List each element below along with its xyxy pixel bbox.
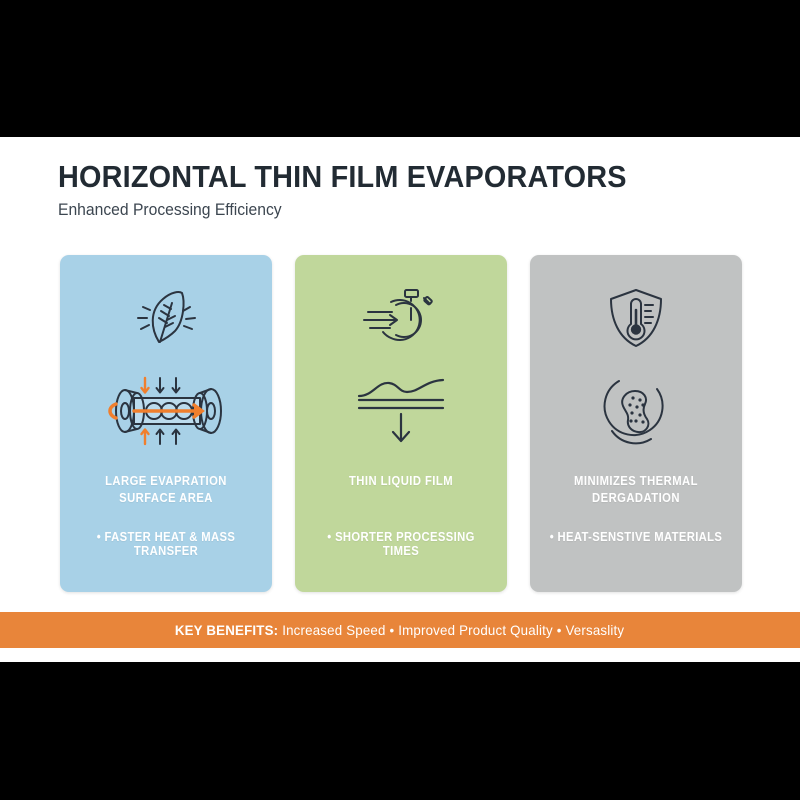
- key-benefits-banner: KEY BENEFITS: Increased Speed • Improved…: [0, 612, 800, 648]
- card-bullet: • HEAT-SENSTIVE MATERIALS: [546, 530, 726, 544]
- card-label-line-1: LARGE EVAPRATION: [105, 474, 227, 488]
- fast-stopwatch-icon: [295, 279, 507, 357]
- card-label-line-2: SURFACE AREA: [119, 491, 213, 505]
- letterbox-bottom-bar: [0, 662, 800, 800]
- card-bullet: • FASTER HEAT & MASS TRANSFER: [76, 530, 256, 558]
- molecule-protection-icon: [530, 367, 742, 453]
- card-label: LARGE EVAPRATION SURFACE AREA: [80, 473, 253, 507]
- horizontal-evaporator-icon: [60, 367, 272, 453]
- benefit-card-grid: LARGE EVAPRATION SURFACE AREA • FASTER H…: [0, 255, 800, 595]
- leaf-shine-icon: [60, 279, 272, 357]
- key-benefits-body: Increased Speed • Improved Product Quali…: [279, 622, 625, 638]
- benefit-card-thin-liquid-film[interactable]: THIN LIQUID FILM • SHORTER PROCESSING TI…: [295, 255, 507, 592]
- key-benefits-prefix: KEY BENEFITS:: [175, 622, 278, 638]
- shield-thermometer-icon: [530, 279, 742, 357]
- benefit-card-large-evaporation-surface-area[interactable]: LARGE EVAPRATION SURFACE AREA • FASTER H…: [60, 255, 272, 592]
- benefit-card-minimizes-thermal-degradation[interactable]: MINIMIZES THERMAL DERGADATION • HEAT-SEN…: [530, 255, 742, 592]
- slide-header: HORIZONTAL THIN FILM EVAPORATORS Enhance…: [58, 161, 758, 220]
- card-label-line-1: THIN LIQUID FILM: [349, 474, 453, 488]
- card-label: THIN LIQUID FILM: [315, 473, 488, 490]
- card-label-line-1: MINIMIZES THERMAL: [574, 474, 698, 488]
- key-benefits-text: KEY BENEFITS: Increased Speed • Improved…: [175, 622, 624, 638]
- card-bullet: • SHORTER PROCESSING TIMES: [311, 530, 491, 558]
- card-label-line-2: DERGADATION: [592, 491, 680, 505]
- letterbox-top-bar: [0, 0, 800, 137]
- page-subtitle: Enhanced Processing Efficiency: [58, 201, 723, 220]
- thin-film-layer-arrow-icon: [295, 367, 507, 453]
- page-title: HORIZONTAL THIN FILM EVAPORATORS: [58, 161, 709, 194]
- slide-canvas: HORIZONTAL THIN FILM EVAPORATORS Enhance…: [0, 137, 800, 662]
- card-label: MINIMIZES THERMAL DERGADATION: [550, 473, 723, 507]
